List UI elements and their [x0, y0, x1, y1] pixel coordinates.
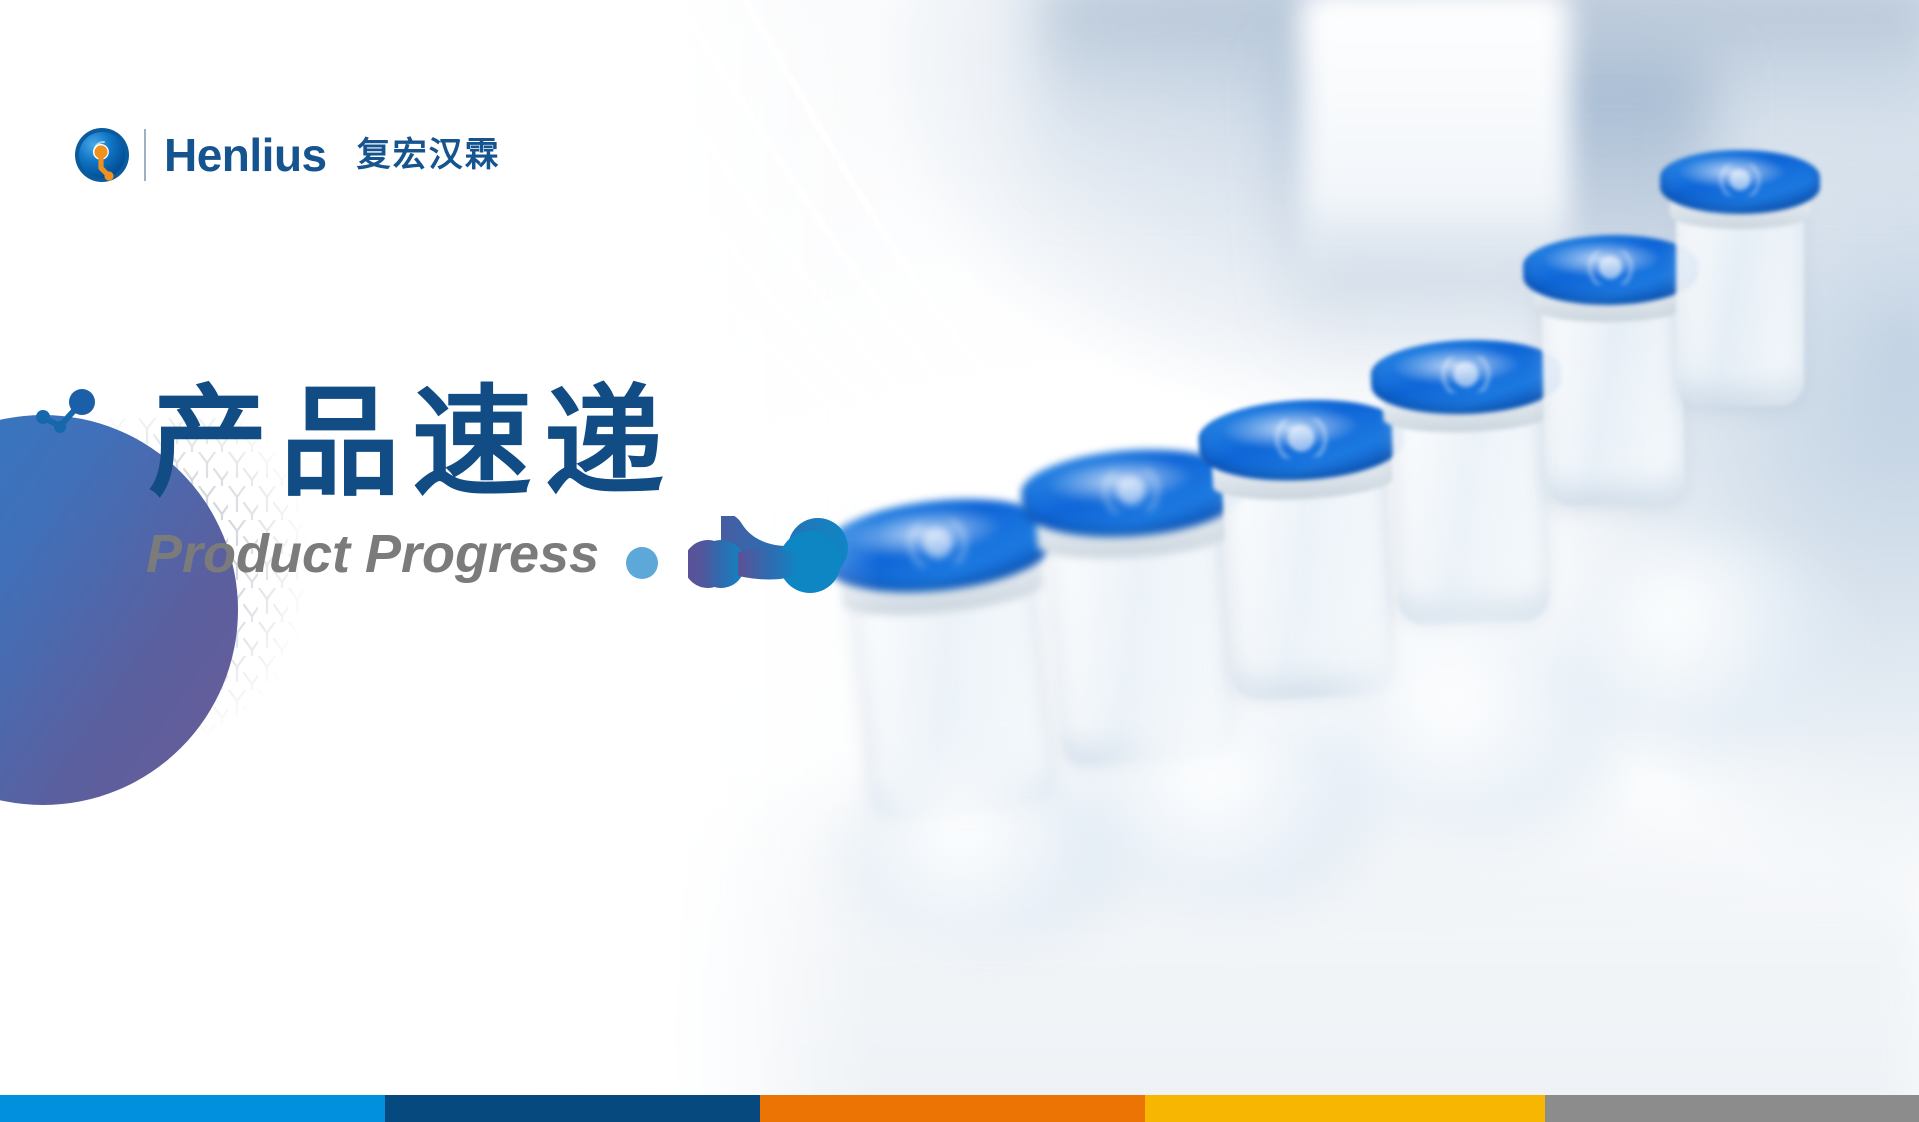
- bottom-bar-segment-gray: [1545, 1095, 1919, 1122]
- bottom-bar-segment-light-blue: [0, 1095, 385, 1122]
- logo-divider: [144, 129, 146, 181]
- accent-dot: [626, 547, 658, 579]
- title-slide: Henlius 复宏汉霖 产品速递 Product Progress: [0, 0, 1919, 1122]
- bottom-color-bar: [0, 1095, 1919, 1122]
- page-title-english: Product Progress: [146, 527, 599, 581]
- vial-6: [1660, 150, 1820, 424]
- molecule-node-icon: [30, 388, 102, 446]
- henlius-molecule-mark-icon: [74, 127, 130, 183]
- metaball-decor-icon: [688, 516, 848, 612]
- henlius-logo[interactable]: Henlius 复宏汉霖: [74, 124, 501, 186]
- bokeh-blob: [1560, 540, 1850, 750]
- bottom-bar-segment-amber: [1145, 1095, 1545, 1122]
- logo-wordmark: Henlius: [164, 132, 327, 178]
- page-title-chinese: 产品速递: [148, 383, 676, 503]
- logo-chinese-name: 复宏汉霖: [357, 138, 501, 172]
- bottom-bar-segment-orange: [760, 1095, 1145, 1122]
- vial-blue-cap: [1660, 150, 1820, 214]
- bottom-bar-segment-dark-blue: [385, 1095, 760, 1122]
